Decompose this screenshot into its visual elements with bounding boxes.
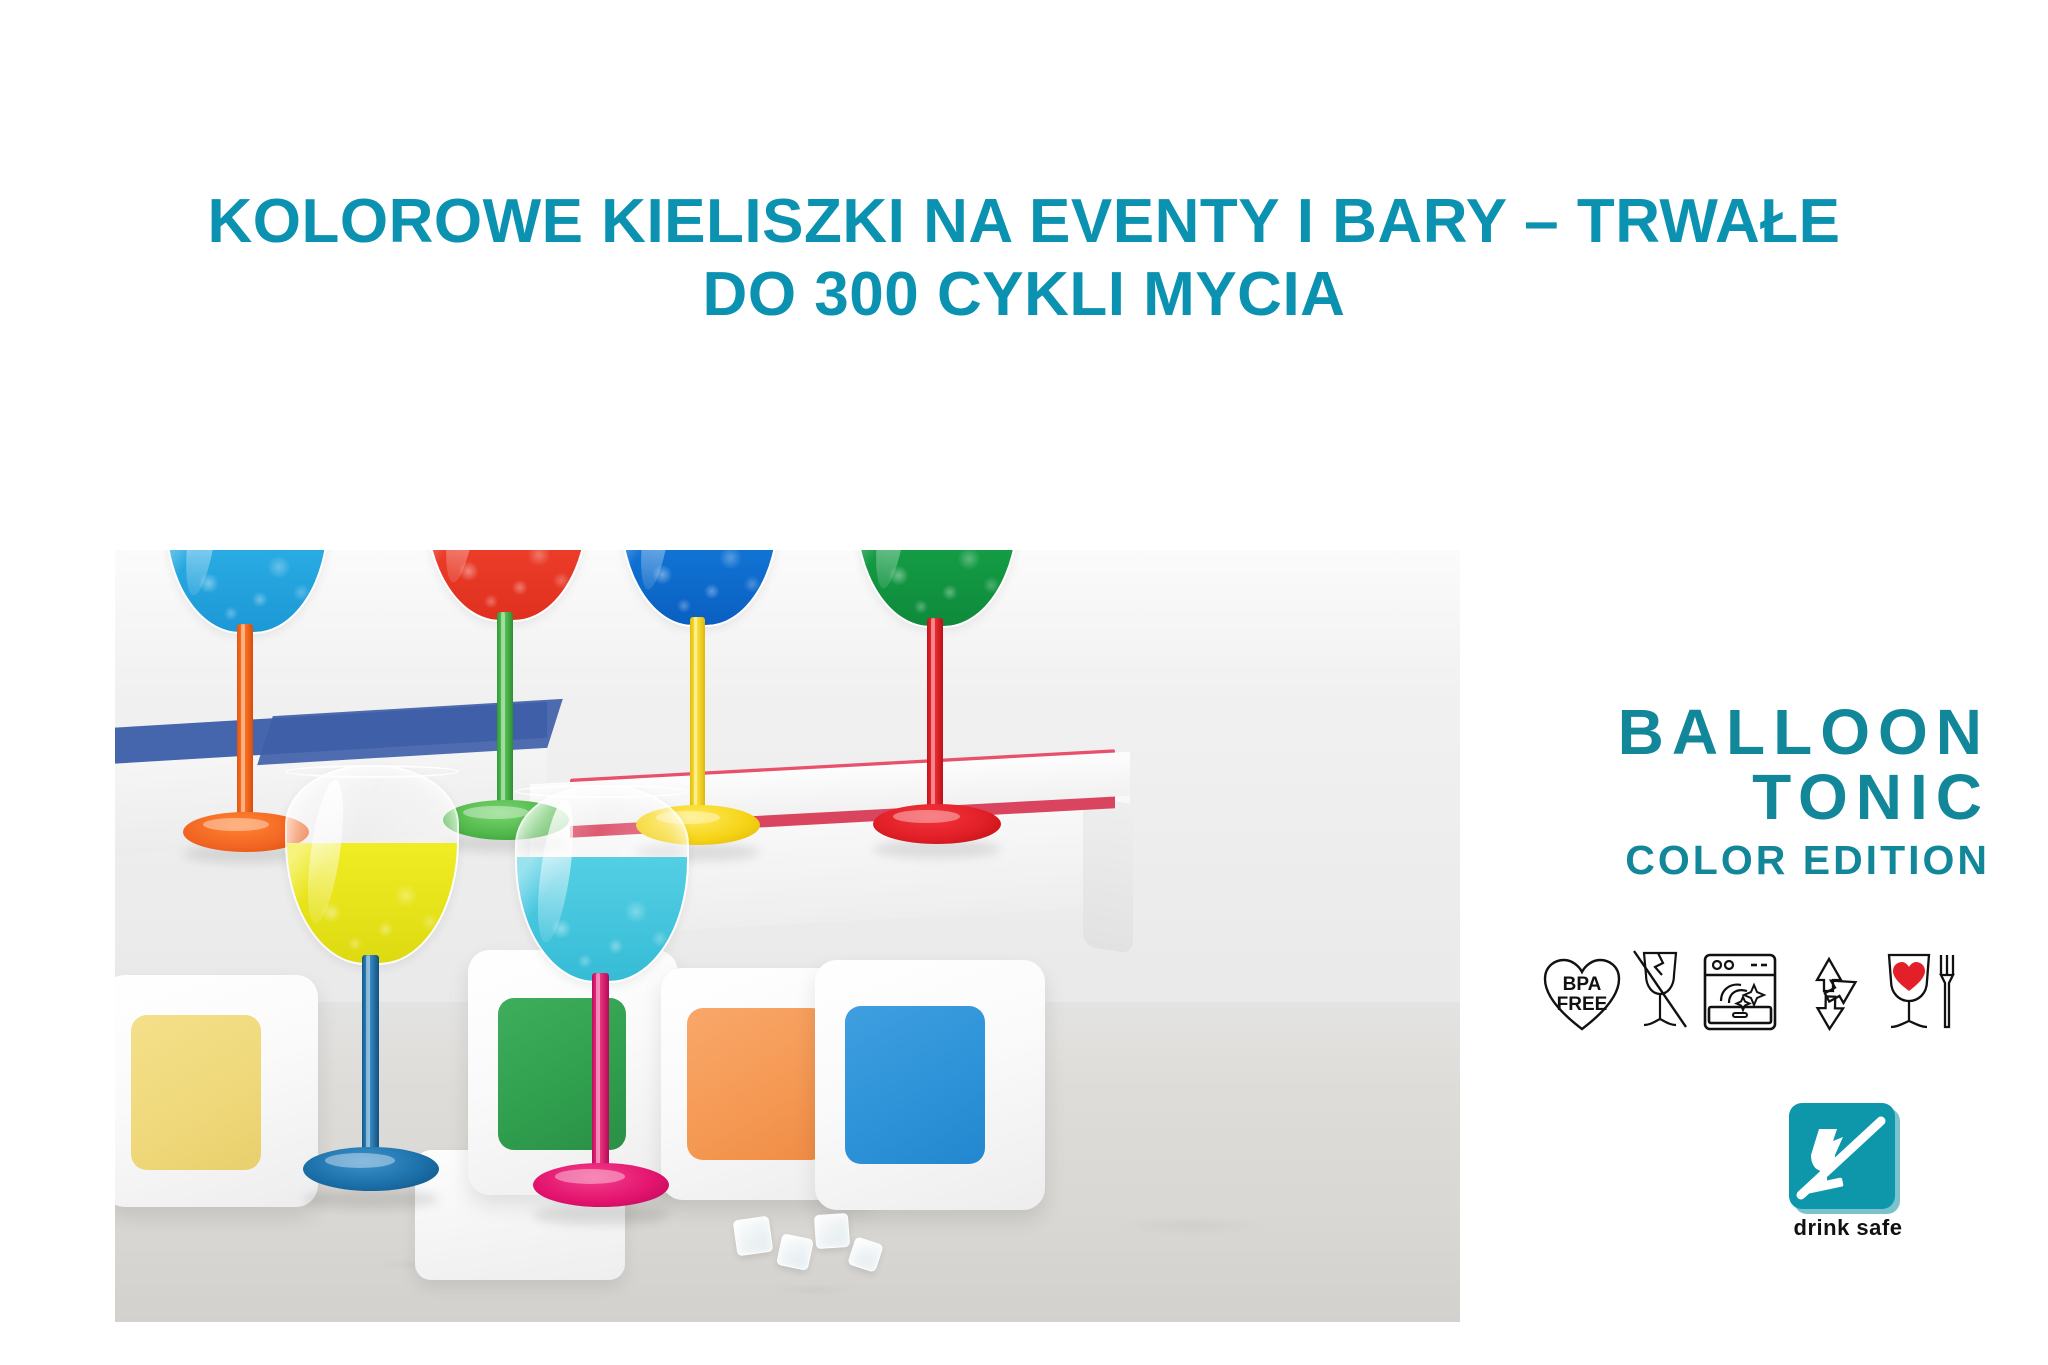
- brand-name-line-2: TONIC: [1490, 765, 1990, 830]
- dishwasher-safe-icon: [1699, 951, 1781, 1038]
- glass-bowl: [855, 550, 1019, 628]
- brand-edition-label: COLOR EDITION: [1490, 837, 1990, 884]
- shelf-white-side: [1083, 796, 1133, 954]
- brand-name-line-1: BALLOON: [1490, 700, 1990, 765]
- ice-cube: [776, 1233, 814, 1271]
- glass-foot-navy: [303, 1147, 439, 1191]
- page-headline: KOLOROWE KIELISZKI NA EVENTY I BARY – TR…: [0, 185, 2048, 331]
- glass-rim: [285, 765, 459, 778]
- feature-icon-strip: BPA FREE: [1543, 928, 1963, 1038]
- cube-yellow: [115, 975, 318, 1207]
- glass-stem-orange: [237, 624, 253, 824]
- glass-bowl: [515, 785, 689, 983]
- drink-safe-label: drink safe: [1789, 1215, 1907, 1241]
- glass-foot-red: [873, 804, 1001, 844]
- glass-shadow: [533, 1205, 669, 1225]
- headline-line-1: KOLOROWE KIELISZKI NA EVENTY I BARY – TR…: [0, 185, 2048, 258]
- cube-blue: [815, 960, 1045, 1210]
- glass-bowl: [620, 550, 779, 627]
- drink-safe-badge: [1789, 1103, 1895, 1209]
- cube-green: [468, 950, 678, 1195]
- bpa-free-heart-icon: BPA FREE: [1543, 957, 1621, 1038]
- glass-stem-yellow: [690, 617, 705, 817]
- broken-glass-crossed-icon: [1789, 1103, 1895, 1209]
- headline-line-2: DO 300 CYKLI MYCIA: [0, 258, 2048, 331]
- glass-bowl: [165, 550, 329, 634]
- glass-stem-magenta: [592, 973, 609, 1171]
- bpa-free-label-line-1: BPA: [1563, 974, 1602, 995]
- cube-yellow-interior: [131, 1015, 261, 1170]
- ice-cube: [733, 1216, 774, 1257]
- glass-stem-red: [927, 618, 943, 814]
- drink-safe-logo: drink safe: [1789, 1103, 1919, 1253]
- glass-shadow: [303, 1189, 439, 1209]
- glass-foot-magenta: [533, 1163, 669, 1207]
- glass-stem-navy: [362, 955, 379, 1157]
- glass-rim: [515, 785, 689, 798]
- ice-cube: [814, 1213, 850, 1249]
- glass-bowl: [285, 765, 459, 965]
- cube-blue-interior: [845, 1006, 985, 1164]
- recyclable-icon: [1788, 953, 1870, 1038]
- cube-orange-interior: [687, 1008, 827, 1160]
- food-safe-glass-fork-icon: [1877, 949, 1963, 1038]
- bpa-free-label-line-2: FREE: [1557, 994, 1608, 1015]
- product-photo: [115, 550, 1460, 1322]
- unbreakable-glass-icon: [1628, 947, 1692, 1038]
- glass-stem-green: [497, 612, 513, 810]
- brand-block: BALLOON TONIC COLOR EDITION: [1490, 700, 1990, 884]
